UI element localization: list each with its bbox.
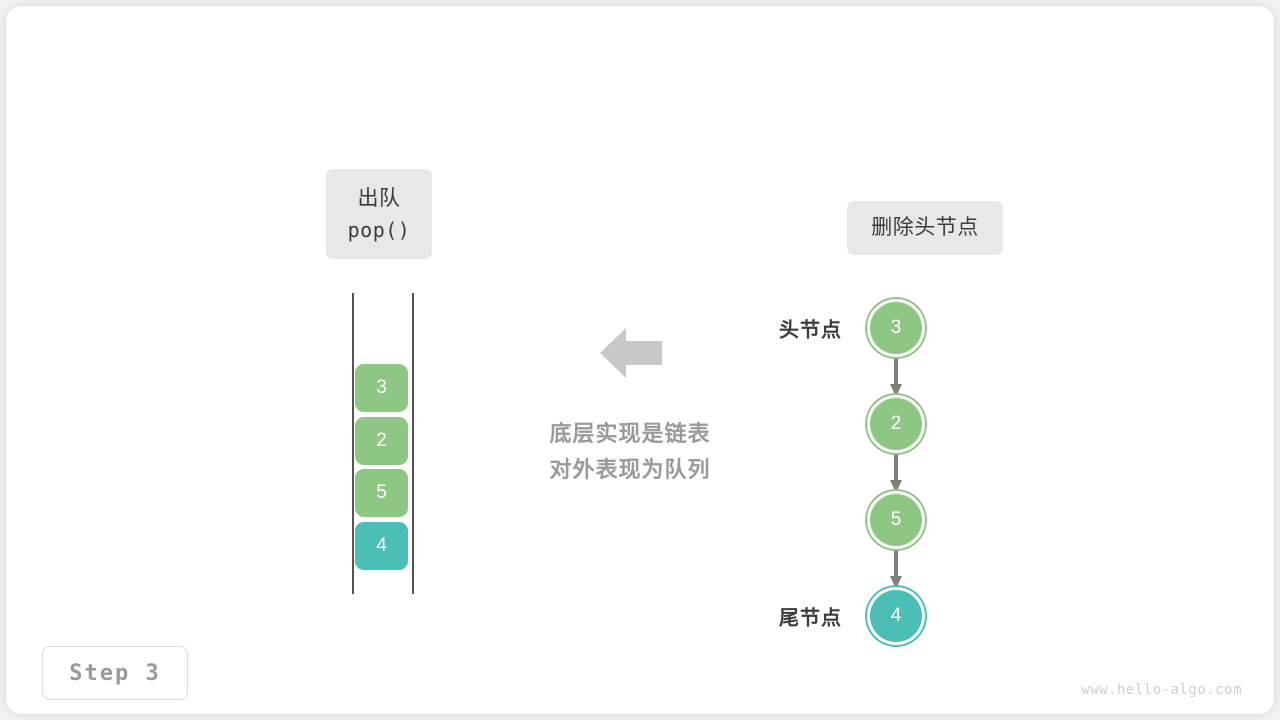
list-node-value: 4: [891, 605, 902, 627]
list-node: 2: [867, 395, 925, 453]
pop-chip-line1: 出队: [358, 183, 401, 215]
linked-list: 头节点 3 2 5 尾节点 4: [766, 286, 1026, 656]
arrow-left-block-icon: [600, 324, 662, 382]
center-caption-line1: 底层实现是链表: [485, 416, 775, 452]
queue-item: 5: [355, 469, 408, 517]
arrow-down-icon: [889, 551, 903, 589]
queue-rail-left: [352, 293, 354, 594]
delete-head-chip: 删除头节点: [847, 201, 1003, 255]
list-node-value: 5: [891, 509, 902, 531]
step-badge: Step 3: [42, 646, 188, 700]
arrow-down-icon: [889, 359, 903, 397]
tail-node-label: 尾节点: [779, 602, 842, 631]
center-caption-line2: 对外表现为队列: [485, 452, 775, 488]
delete-head-chip-label: 删除头节点: [871, 212, 979, 244]
list-node: 尾节点 4: [867, 587, 925, 645]
watermark: www.hello-algo.com: [1081, 682, 1242, 698]
list-node: 头节点 3: [867, 299, 925, 357]
queue-item: 2: [355, 417, 408, 465]
list-node-value: 3: [891, 317, 902, 339]
head-node-label: 头节点: [779, 314, 842, 343]
figure-canvas: 出队 pop() 3 2 5 4 底层实现是链表 对外表现为队列 删除头节点 头…: [0, 0, 1280, 720]
queue-item: 4: [355, 522, 408, 570]
list-node: 5: [867, 491, 925, 549]
arrow-down-icon: [889, 455, 903, 493]
figure-card: 出队 pop() 3 2 5 4 底层实现是链表 对外表现为队列 删除头节点 头…: [6, 6, 1274, 714]
pop-chip-line2: pop(): [348, 215, 411, 245]
center-caption: 底层实现是链表 对外表现为队列: [485, 416, 775, 488]
queue-rail-right: [412, 293, 414, 594]
pop-operation-chip: 出队 pop(): [326, 169, 432, 259]
queue-item: 3: [355, 364, 408, 412]
list-node-value: 2: [891, 413, 902, 435]
